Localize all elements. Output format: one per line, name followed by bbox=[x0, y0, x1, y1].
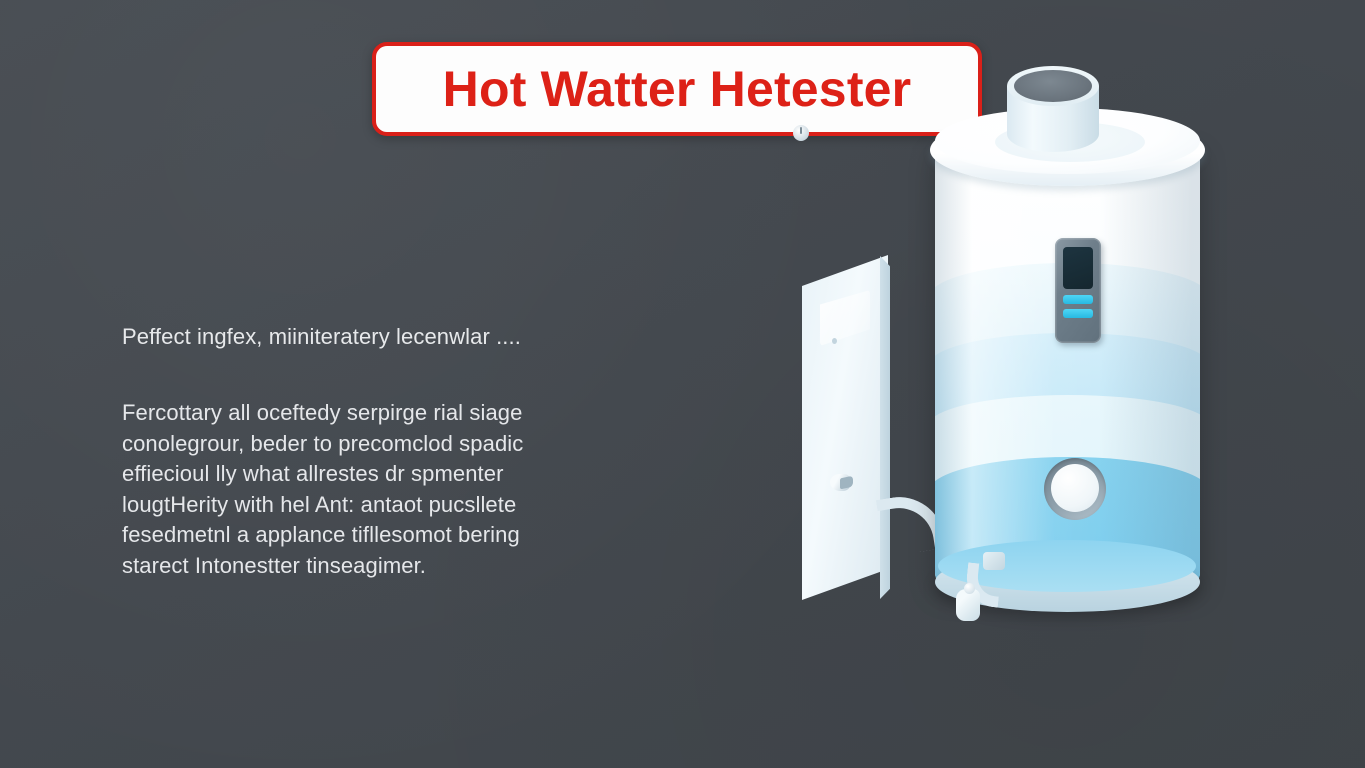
paragraph-line: lougtHerity with hel Ant: antaot pucslle… bbox=[122, 490, 642, 521]
body-paragraph: Fercottary all oceftedy serpirge rial si… bbox=[122, 398, 642, 581]
lede-text: Peffect ingfex, miiniteratery lecenwlar … bbox=[122, 322, 642, 352]
display-screen-icon bbox=[1063, 247, 1093, 289]
indicator-bar-1 bbox=[1063, 295, 1093, 304]
content-text-block: Peffect ingfex, miiniteratery lecenwlar … bbox=[122, 322, 642, 581]
paragraph-line: conolegrour, beder to precomclod spadic bbox=[122, 429, 642, 460]
water-heater-illustration bbox=[780, 40, 1250, 660]
flue-pipe-opening bbox=[1014, 70, 1092, 102]
drain-valve-knob[interactable] bbox=[964, 583, 975, 594]
indicator-bar-2 bbox=[1063, 309, 1093, 318]
paragraph-line: Fercottary all oceftedy serpirge rial si… bbox=[122, 398, 642, 429]
control-panel[interactable] bbox=[1055, 238, 1101, 343]
paragraph-line: effiecioul lly what allrestes dr spmente… bbox=[122, 459, 642, 490]
inspection-port-cap bbox=[1051, 464, 1099, 512]
paragraph-line: fesedmetnl a applance tifllesomot bering bbox=[122, 520, 642, 551]
access-door-screw bbox=[832, 338, 837, 344]
control-knob-marker bbox=[800, 127, 802, 134]
paragraph-line: starect Intonestter tinseagimer. bbox=[122, 551, 642, 582]
